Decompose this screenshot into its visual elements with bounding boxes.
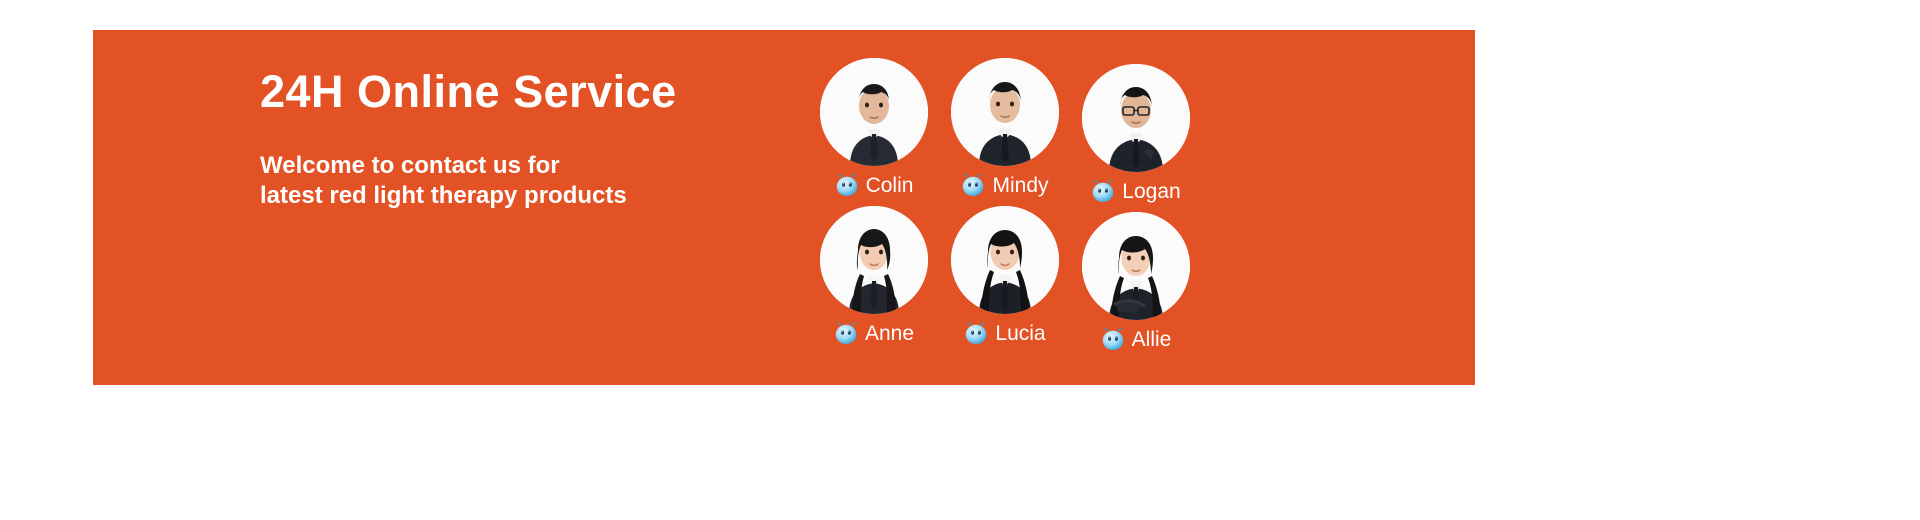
avatar bbox=[820, 58, 928, 166]
tradmanager-chat-icon[interactable] bbox=[960, 172, 986, 198]
tradmanager-chat-icon[interactable] bbox=[1100, 326, 1126, 352]
agent-name: Allie bbox=[1132, 329, 1172, 350]
agent-card-lucia[interactable]: Lucia bbox=[939, 206, 1070, 346]
agent-card-colin[interactable]: Colin bbox=[808, 58, 939, 198]
avatar bbox=[1082, 64, 1190, 172]
agent-name: Anne bbox=[865, 323, 914, 344]
banner-subtitle: Welcome to contact us for latest red lig… bbox=[260, 115, 860, 211]
agent-card-allie[interactable]: Allie bbox=[1070, 212, 1201, 352]
agent-name: Lucia bbox=[995, 323, 1045, 344]
agent-card-mindy[interactable]: Mindy bbox=[939, 58, 1070, 198]
tradmanager-chat-icon[interactable] bbox=[834, 172, 860, 198]
avatar bbox=[951, 58, 1059, 166]
tradmanager-chat-icon[interactable] bbox=[963, 320, 989, 346]
agent-label[interactable]: Allie bbox=[1100, 326, 1172, 352]
agent-grid: Colin bbox=[808, 58, 1201, 346]
agent-label[interactable]: Colin bbox=[834, 172, 914, 198]
avatar bbox=[951, 206, 1059, 314]
avatar bbox=[1082, 212, 1190, 320]
agent-name: Logan bbox=[1122, 181, 1180, 202]
agent-name: Mindy bbox=[992, 175, 1048, 196]
agent-name: Colin bbox=[866, 175, 914, 196]
agent-label[interactable]: Lucia bbox=[963, 320, 1045, 346]
tradmanager-chat-icon[interactable] bbox=[1090, 178, 1116, 204]
agent-row: Colin bbox=[808, 58, 1201, 198]
agent-card-logan[interactable]: Logan bbox=[1070, 64, 1201, 204]
agent-label[interactable]: Logan bbox=[1090, 178, 1180, 204]
avatar bbox=[820, 206, 928, 314]
agent-card-anne[interactable]: Anne bbox=[808, 206, 939, 346]
service-banner: 24H Online Service Welcome to contact us… bbox=[93, 30, 1475, 385]
banner-subtitle-line-2: latest red light therapy products bbox=[260, 181, 860, 211]
agent-label[interactable]: Mindy bbox=[960, 172, 1048, 198]
tradmanager-chat-icon[interactable] bbox=[833, 320, 859, 346]
banner-subtitle-line-1: Welcome to contact us for bbox=[260, 151, 860, 181]
page-title: 24H Online Service bbox=[260, 68, 860, 115]
page-root: 24H Online Service Welcome to contact us… bbox=[0, 0, 1920, 520]
banner-copy: 24H Online Service Welcome to contact us… bbox=[260, 68, 860, 211]
agent-row: Anne bbox=[808, 206, 1201, 346]
agent-label[interactable]: Anne bbox=[833, 320, 914, 346]
